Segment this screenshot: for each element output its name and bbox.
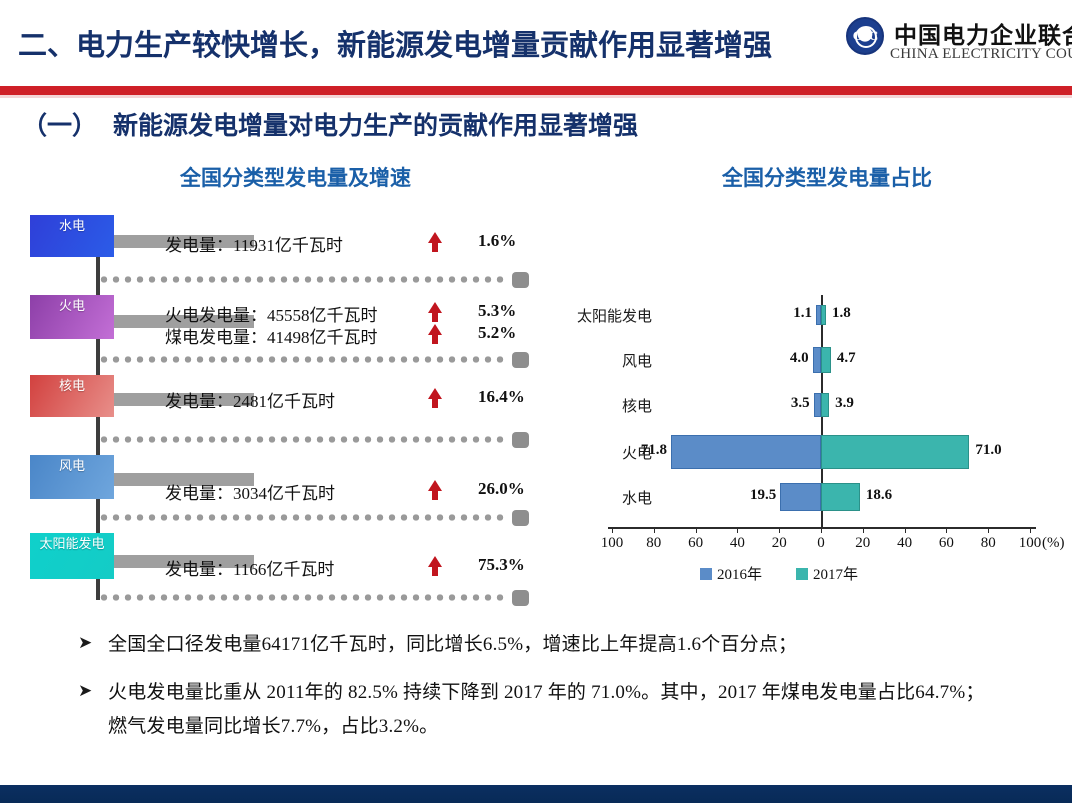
growth-percent-text: 16.4%: [478, 387, 525, 407]
slide-header: 二、电力生产较快增长，新能源发电增量贡献作用显著增强 CEC 中国电力企业联合会…: [0, 0, 1072, 86]
share-bar-chart-panel: 太阳能发电风电核电火电水电 1.14.03.571.819.51.84.73.9…: [560, 195, 1072, 595]
energy-type-tag: 火电: [30, 295, 114, 339]
energy-type-tag-label: 火电: [59, 298, 85, 313]
right-chart-title: 全国分类型发电量占比: [722, 162, 932, 192]
generation-metric-text: 发电量：11931亿千瓦时: [165, 231, 343, 256]
slide-root: 二、电力生产较快增长，新能源发电增量贡献作用显著增强 CEC 中国电力企业联合会…: [0, 0, 1072, 803]
x-axis-tick-label: 40: [730, 535, 745, 552]
energy-type-tag-label: 核电: [59, 378, 85, 393]
chart-bar: [813, 347, 821, 373]
energy-type-tag-label: 风电: [59, 458, 85, 473]
x-axis-tick-label: 20: [855, 535, 870, 552]
row-dot-endcap: [512, 272, 529, 288]
generation-breakdown-panel: 水电发电量：11931亿千瓦时1.6%火电火电发电量：45558亿千瓦时5.3%…: [0, 195, 560, 615]
bullet-item: ➤全国全口径发电量64171亿千瓦时，同比增长6.5%，增速比上年提高1.6个百…: [0, 628, 1072, 662]
legend-label: 2017年: [813, 563, 858, 584]
generation-metric-text: 发电量：3034亿千瓦时: [165, 479, 335, 504]
left-chart-title: 全国分类型发电量及增速: [180, 162, 411, 192]
x-axis-tick-label: 60: [939, 535, 954, 552]
bar-value-label: 3.9: [835, 395, 854, 412]
chart-bar: [814, 393, 821, 417]
x-axis-tick-label: 60: [688, 535, 703, 552]
bar-value-label: 71.8: [633, 442, 667, 459]
x-axis-tick-label: 80: [981, 535, 996, 552]
chart-bar: [821, 393, 829, 417]
energy-type-tag: 水电: [30, 215, 114, 257]
legend-swatch-icon: [700, 568, 712, 580]
chart-bar: [821, 483, 860, 511]
row-dotted-separator: [98, 435, 508, 444]
organization-logo: CEC 中国电力企业联合会 CHINA ELECTRICITY COUNCIL: [846, 14, 1066, 76]
row-dot-endcap: [512, 432, 529, 448]
section-subtitle: （一）新能源发电增量对电力生产的贡献作用显著增强: [22, 106, 638, 142]
x-axis-tick-label: 20: [772, 535, 787, 552]
bar-value-label: 3.5: [776, 395, 810, 412]
chart-bar: [671, 435, 821, 469]
x-axis-tick: [988, 527, 989, 533]
energy-type-tag: 核电: [30, 375, 114, 417]
cec-seal-text: CEC: [848, 19, 882, 53]
x-axis-tick-label: 0: [817, 535, 825, 552]
x-axis-tick: [654, 527, 655, 533]
row-dot-endcap: [512, 590, 529, 606]
x-axis-tick-label: 100: [1019, 535, 1042, 552]
up-arrow-stem: [432, 241, 438, 252]
logo-chinese-name: 中国电力企业联合会: [894, 16, 1072, 50]
chart-bar: [821, 347, 831, 373]
x-axis-tick-label: 100: [601, 535, 624, 552]
bullet-chevron-icon: ➤: [78, 681, 92, 701]
bullet-text: 全国全口径发电量64171亿千瓦时，同比增长6.5%，增速比上年提高1.6个百分…: [108, 628, 988, 662]
bullet-item: ➤火电发电量比重从 2011年的 82.5% 持续下降到 2017 年的 71.…: [0, 676, 1072, 744]
row-dot-endcap: [512, 510, 529, 526]
generation-metric-text: 发电量：2481亿千瓦时: [165, 387, 335, 412]
bullet-chevron-icon: ➤: [78, 633, 92, 653]
x-axis-tick-label: 80: [646, 535, 661, 552]
up-arrow-stem: [432, 333, 438, 344]
legend-label: 2016年: [717, 563, 762, 584]
energy-type-tag-label: 水电: [59, 218, 85, 233]
x-axis-tick: [1030, 527, 1031, 533]
up-arrow-stem: [432, 311, 438, 322]
bar-value-label: 1.8: [832, 305, 851, 322]
row-dot-endcap: [512, 352, 529, 368]
bullet-list: ➤全国全口径发电量64171亿千瓦时，同比增长6.5%，增速比上年提高1.6个百…: [0, 628, 1072, 758]
x-axis-tick: [779, 527, 780, 533]
bullet-text: 火电发电量比重从 2011年的 82.5% 持续下降到 2017 年的 71.0…: [108, 676, 988, 744]
footer-bar: [0, 785, 1072, 803]
x-axis-tick: [696, 527, 697, 533]
up-arrow-stem: [432, 565, 438, 576]
legend-swatch-icon: [796, 568, 808, 580]
legend-item[interactable]: 2016年: [700, 563, 762, 584]
bar-value-label: 4.0: [775, 350, 809, 367]
up-arrow-stem: [432, 397, 438, 408]
subtitle-index: （一）: [22, 112, 97, 140]
x-axis-tick-label: 40: [897, 535, 912, 552]
growth-percent-text: 75.3%: [478, 555, 525, 575]
cec-seal-icon: CEC: [846, 17, 884, 55]
bar-value-label: 19.5: [742, 487, 776, 504]
subtitle-text: 新能源发电增量对电力生产的贡献作用显著增强: [113, 112, 638, 140]
bar-chart-plot-area: 1.14.03.571.819.51.84.73.971.018.6: [608, 295, 1036, 527]
x-axis-tick: [612, 527, 613, 533]
row-dotted-separator: [98, 355, 508, 364]
bar-value-label: 18.6: [866, 487, 892, 504]
energy-type-tag: 太阳能发电: [30, 533, 114, 579]
x-axis-tick: [905, 527, 906, 533]
energy-type-tag-label: 太阳能发电: [39, 536, 104, 551]
generation-metric-text: 发电量：1166亿千瓦时: [165, 555, 334, 580]
energy-type-tag: 风电: [30, 455, 114, 499]
x-axis-tick: [863, 527, 864, 533]
chart-bar: [821, 305, 826, 325]
header-red-divider: [0, 86, 1072, 95]
chart-bar: [780, 483, 821, 511]
growth-percent-text: 5.2%: [478, 323, 516, 343]
x-axis-unit-label: (%): [1042, 535, 1065, 552]
chart-legend: 2016年2017年: [700, 563, 858, 584]
row-dotted-separator: [98, 275, 508, 284]
x-axis-line: 10080604020020406080100: [608, 527, 1036, 529]
bar-value-label: 71.0: [975, 442, 1001, 459]
x-axis-tick: [737, 527, 738, 533]
growth-percent-text: 1.6%: [478, 231, 516, 251]
bar-value-label: 4.7: [837, 350, 856, 367]
growth-percent-text: 26.0%: [478, 479, 525, 499]
legend-item[interactable]: 2017年: [796, 563, 858, 584]
generation-metric-text: 煤电发电量：41498亿千瓦时: [165, 323, 378, 348]
x-axis-tick: [821, 527, 822, 533]
logo-english-name: CHINA ELECTRICITY COUNCIL: [890, 46, 1072, 63]
chart-bar: [821, 435, 969, 469]
x-axis-tick: [946, 527, 947, 533]
page-title: 二、电力生产较快增长，新能源发电增量贡献作用显著增强: [18, 22, 772, 64]
row-dotted-separator: [98, 593, 508, 602]
growth-percent-text: 5.3%: [478, 301, 516, 321]
row-dotted-separator: [98, 513, 508, 522]
header-divider-shadow: [0, 95, 1072, 98]
up-arrow-stem: [432, 489, 438, 500]
bar-value-label: 1.1: [778, 305, 812, 322]
